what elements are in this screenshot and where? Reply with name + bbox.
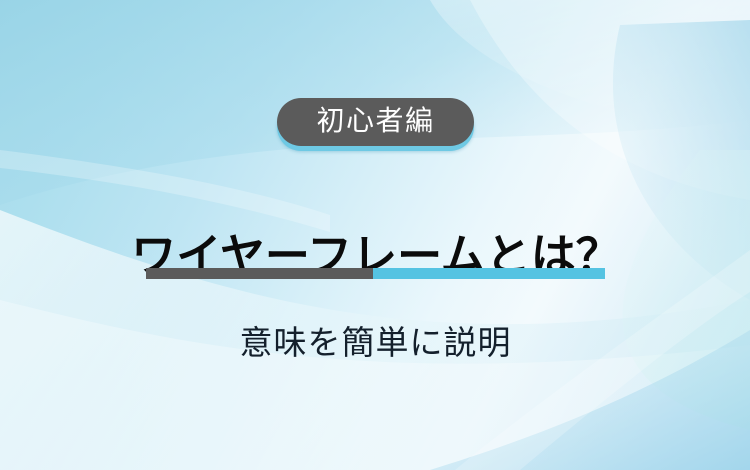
page-subtitle: 意味を簡単に説明 xyxy=(146,321,605,363)
level-badge-label: 初心者編 xyxy=(316,107,434,135)
level-badge: 初心者編 xyxy=(277,98,474,146)
banner-content: 初心者編 ワイヤーフレームとは？ 意味を簡単に説明 xyxy=(0,0,750,470)
banner-canvas: 初心者編 ワイヤーフレームとは？ 意味を簡単に説明 xyxy=(0,0,750,470)
divider xyxy=(146,268,605,279)
divider-segment-gray xyxy=(146,268,373,279)
divider-segment-cyan xyxy=(373,268,605,279)
badge-container: 初心者編 xyxy=(277,98,474,146)
